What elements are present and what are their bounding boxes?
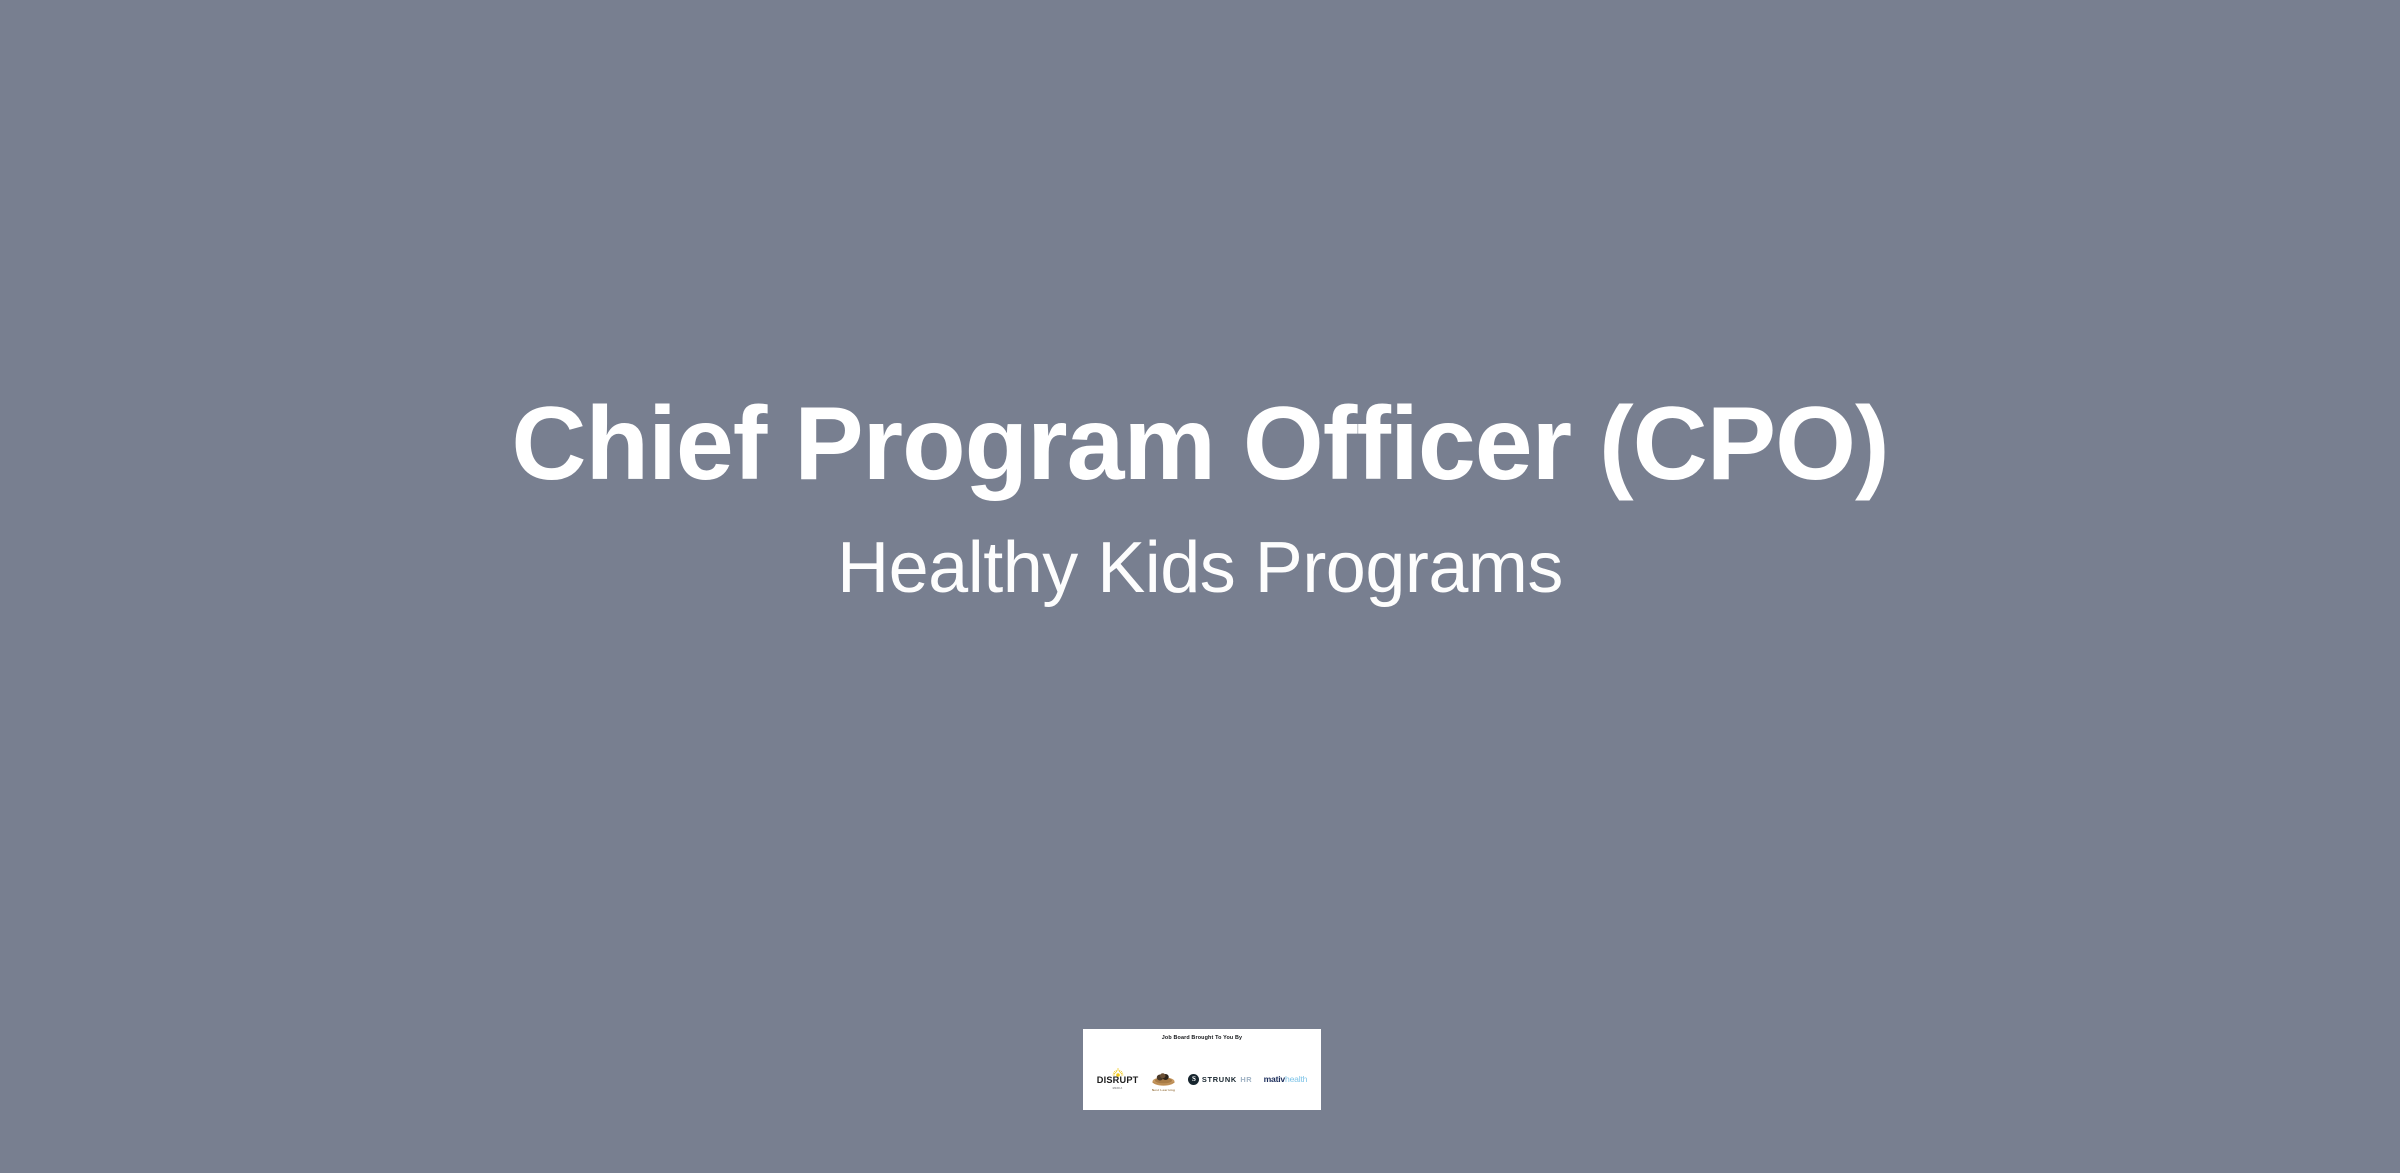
sponsor-logo-row: DISRUPT MEDIA Nest Learning S STRUNK HR … (1083, 1052, 1321, 1110)
logo-mativ-wordmark-light: health (1285, 1075, 1307, 1084)
logo-disrupt[interactable]: DISRUPT MEDIA (1097, 1068, 1139, 1090)
logo-strunk-wordmark: STRUNK (1202, 1076, 1237, 1083)
page-title: Chief Program Officer (CPO) (511, 392, 1888, 496)
logo-mativ-wordmark-dark: mativ (1264, 1075, 1285, 1084)
strunk-badge-icon: S (1188, 1074, 1199, 1085)
sponsor-card: Job Board Brought To You By DISRUPT (1083, 1029, 1321, 1110)
page-subtitle: Healthy Kids Programs (837, 532, 1563, 604)
logo-strunk-hr[interactable]: S STRUNK HR (1188, 1074, 1252, 1085)
logo-strunk-suffix: HR (1240, 1076, 1252, 1083)
sponsor-card-heading: Job Board Brought To You By (1162, 1036, 1242, 1041)
logo-mativhealth[interactable]: mativ health (1264, 1075, 1308, 1084)
hero-section: Chief Program Officer (CPO) Healthy Kids… (0, 0, 2400, 1173)
logo-nest-learning[interactable]: Nest Learning (1150, 1067, 1177, 1092)
logo-disrupt-tagline: MEDIA (1113, 1088, 1123, 1091)
nest-icon (1150, 1069, 1177, 1087)
sunburst-icon (1111, 1068, 1124, 1079)
logo-nest-wordmark: Nest Learning (1152, 1089, 1175, 1092)
